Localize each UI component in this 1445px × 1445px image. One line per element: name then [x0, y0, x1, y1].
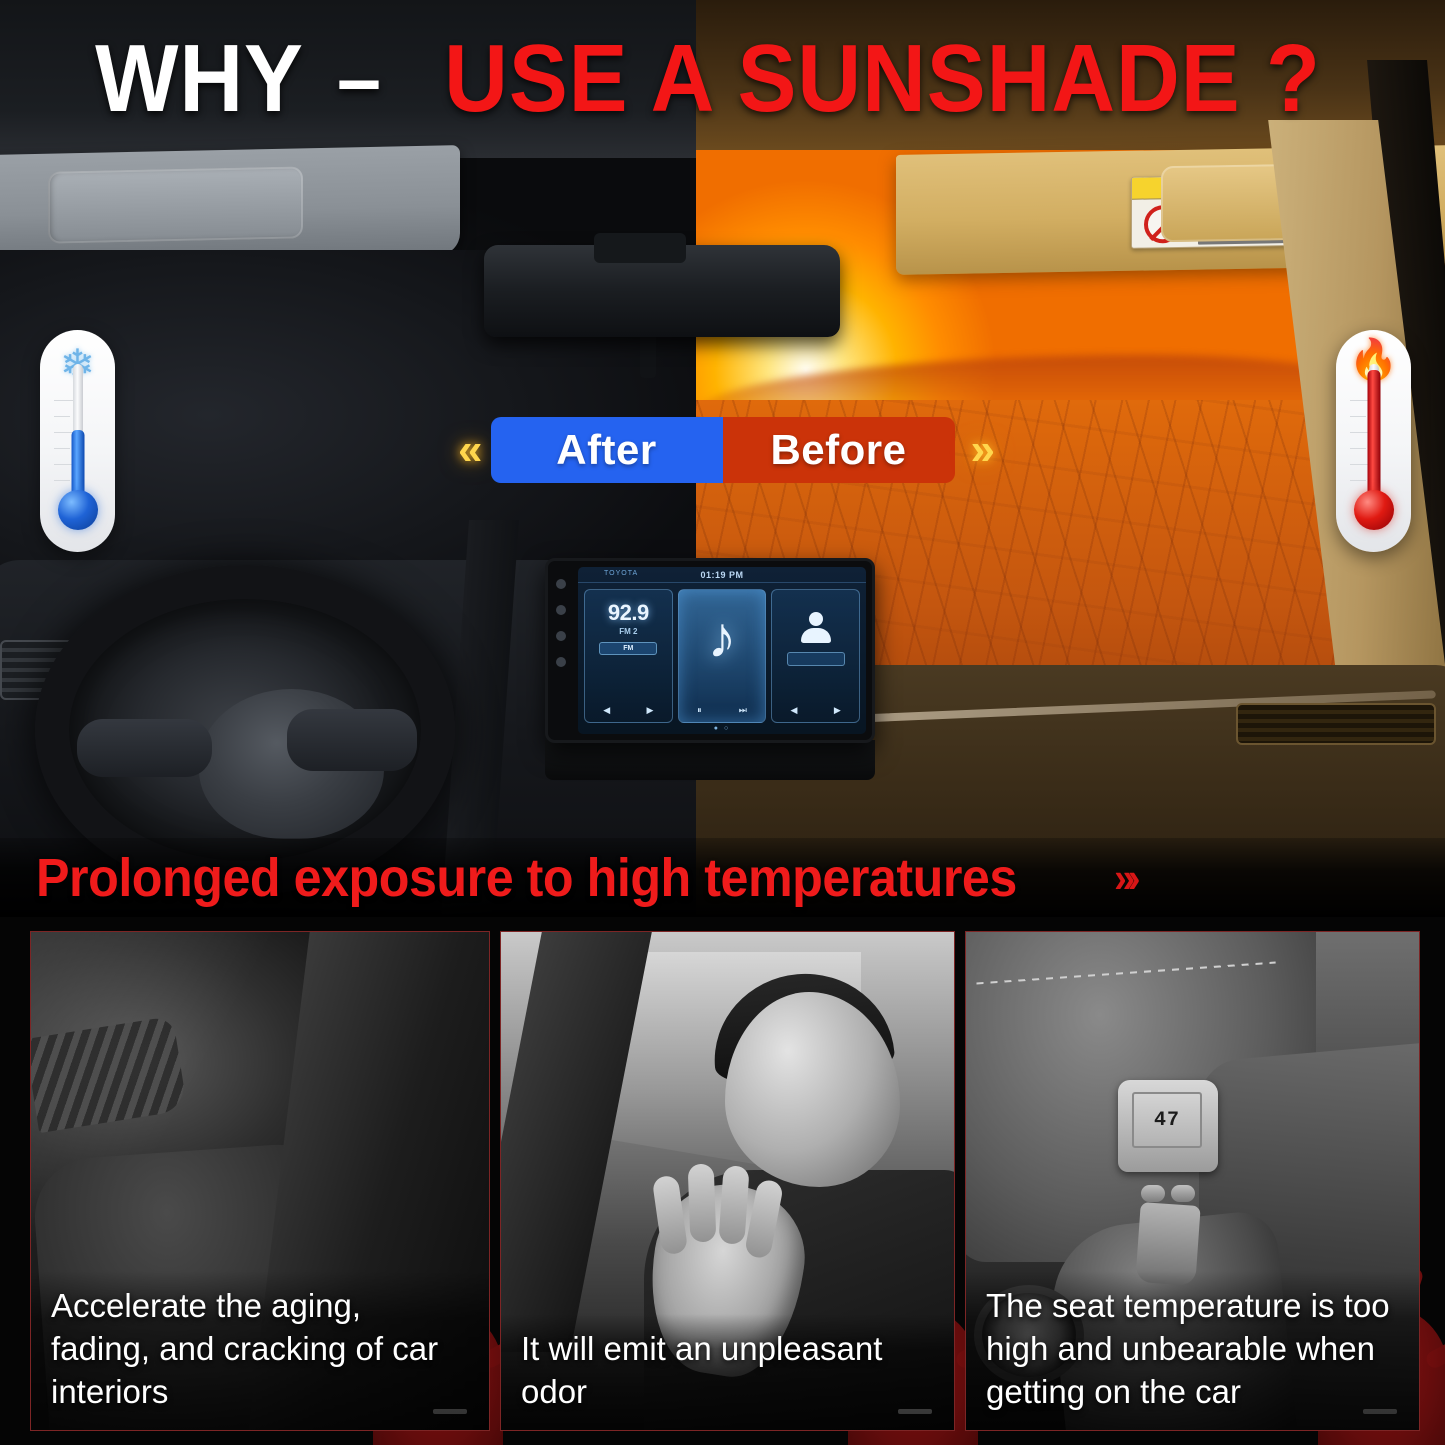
profile-next-icon[interactable]: ▶ — [834, 705, 841, 716]
air-vent-right — [1236, 703, 1436, 745]
ir-button-2[interactable] — [1171, 1185, 1195, 1202]
finger-2 — [688, 1164, 717, 1243]
ir-button-1[interactable] — [1141, 1185, 1165, 1202]
head-unit-brand: TOYOTA — [604, 570, 638, 577]
profile-prev-icon[interactable]: ◀ — [791, 705, 798, 716]
head-unit-clock: 01:19 PM — [700, 570, 743, 580]
warning-triangle-icon — [1198, 181, 1212, 193]
before-after-badge-row: « After Before » — [0, 413, 1445, 487]
ir-temperature-reading: 47 — [1154, 1109, 1180, 1132]
radio-next-icon[interactable]: ▶ — [647, 705, 654, 716]
head-unit-key-3[interactable] — [556, 631, 566, 641]
before-badge[interactable]: Before — [723, 417, 955, 483]
ir-gun-display: 47 — [1132, 1092, 1202, 1148]
title-question: USE A SUNSHADE ? — [444, 31, 1321, 127]
page-title: WHY – USE A SUNSHADE ? — [0, 24, 1445, 134]
no-child-seat-icon — [1144, 205, 1182, 244]
finger-3 — [718, 1165, 749, 1245]
radio-controls[interactable]: ◀ ▶ — [585, 705, 672, 716]
title-why: WHY — [95, 31, 304, 127]
profile-tile[interactable]: ◀ ▶ — [771, 589, 860, 723]
chevrons-right-icon: » — [971, 428, 987, 472]
title-dash: – — [337, 36, 382, 122]
mirror-stalk — [640, 330, 656, 378]
head-unit-screen[interactable]: bluetooth-icon TOYOTA 01:19 PM 92.9 FM 2… — [578, 567, 866, 734]
subtitle-chevrons-icon: »› — [1114, 854, 1133, 902]
infotainment-head-unit[interactable]: bluetooth-icon TOYOTA 01:19 PM 92.9 FM 2… — [545, 558, 875, 743]
consequence-panels: Accelerate the aging, fading, and cracki… — [0, 917, 1445, 1445]
head-unit-base — [545, 740, 875, 780]
chevrons-left-icon: « — [458, 428, 474, 472]
panel-caption-3: The seat temperature is too high and unb… — [966, 1271, 1419, 1430]
head-unit-key-4[interactable] — [556, 657, 566, 667]
hot-thermometer-bulb — [1354, 490, 1394, 530]
warning-label-title: WARNING — [1216, 180, 1258, 193]
radio-frequency: 92.9 — [608, 600, 649, 626]
radio-prev-icon[interactable]: ◀ — [603, 705, 610, 716]
person-icon — [801, 612, 831, 642]
head-unit-key-2[interactable] — [556, 605, 566, 615]
subtitle-text: Prolonged exposure to high temperatures — [36, 847, 1017, 909]
panel-unpleasant-odor[interactable]: It will emit an unpleasant odor — [500, 931, 955, 1431]
panel-caption-2: It will emit an unpleasant odor — [501, 1314, 954, 1430]
seat-stitching — [976, 962, 1275, 985]
page-indicator-dots[interactable]: ● ○ — [578, 725, 866, 732]
head-unit-side-keys[interactable] — [556, 579, 566, 667]
sun-visor-left — [0, 145, 460, 265]
panel-caption-1: Accelerate the aging, fading, and cracki… — [31, 1271, 489, 1430]
after-badge[interactable]: After — [491, 417, 723, 483]
radio-band: FM 2 — [619, 627, 637, 636]
seat-setting-bar[interactable] — [787, 652, 845, 666]
warning-pictogram — [1132, 199, 1194, 249]
subtitle-bar: Prolonged exposure to high temperatures … — [0, 838, 1445, 917]
infrared-thermometer-gun: 47 — [1118, 1080, 1218, 1280]
rear-view-mirror — [484, 245, 840, 337]
panel-seat-temperature[interactable]: 47 The seat temperature is too high and … — [965, 931, 1420, 1431]
steering-spoke-left — [77, 719, 212, 777]
steering-spoke-right — [287, 709, 417, 771]
head-unit-key-1[interactable] — [556, 579, 566, 589]
media-pause-icon[interactable]: ⏸ — [697, 705, 702, 716]
infographic-root: WARNING — [0, 0, 1445, 1445]
profile-controls[interactable]: ◀ ▶ — [772, 705, 859, 716]
hero-split-comparison: WARNING — [0, 0, 1445, 917]
cold-thermometer-bulb — [58, 490, 98, 530]
media-tile[interactable]: ♪ ⏸ ⏭ — [678, 589, 767, 723]
radio-fm-chip[interactable]: FM — [599, 642, 657, 655]
head-unit-statusbar: bluetooth-icon TOYOTA 01:19 PM — [578, 567, 866, 583]
music-note-icon: ♪ — [708, 612, 737, 664]
radio-tile[interactable]: 92.9 FM 2 FM ◀ ▶ — [584, 589, 673, 723]
panel-interior-aging[interactable]: Accelerate the aging, fading, and cracki… — [30, 931, 490, 1431]
ir-gun-head: 47 — [1118, 1080, 1218, 1172]
media-skip-icon[interactable]: ⏭ — [739, 705, 747, 716]
media-controls[interactable]: ⏸ ⏭ — [679, 705, 766, 716]
head-unit-tiles: 92.9 FM 2 FM ◀ ▶ ♪ ⏸ ⏭ — [578, 583, 866, 723]
